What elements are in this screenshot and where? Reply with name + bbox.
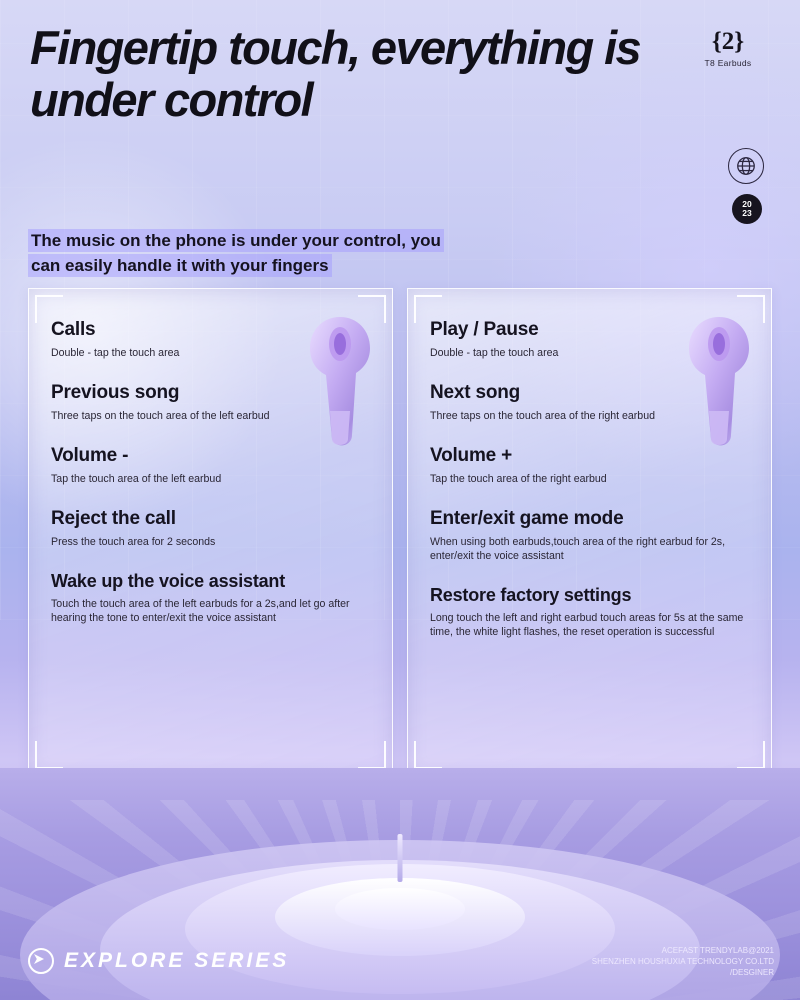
explore-logo-icon (28, 948, 54, 974)
list-item: Wake up the voice assistant Touch the to… (51, 571, 370, 625)
edition-number: {2} (680, 28, 776, 56)
list-item: Volume - Tap the touch area of the left … (51, 445, 370, 486)
product-stage-illustration: EXPLORE SERIES ACEFAST TRENDYLAB@2021 SH… (0, 768, 800, 1000)
item-desc: Touch the touch area of the left earbuds… (51, 597, 370, 625)
globe-icon (728, 148, 764, 184)
list-item: Play / Pause Double - tap the touch area (430, 319, 749, 360)
list-item: Previous song Three taps on the touch ar… (51, 382, 370, 423)
item-title: Calls (51, 319, 370, 341)
credit-line-2: SHENZHEN HOUSHUXIA TECHNOLOGY CO.LTD (592, 956, 774, 967)
item-desc: Press the touch area for 2 seconds (51, 535, 370, 549)
poster-page: Fingertip touch, everything is under con… (0, 0, 800, 1000)
item-desc: Tap the touch area of the left earbud (51, 472, 370, 486)
item-desc: Long touch the left and right earbud tou… (430, 611, 749, 639)
item-desc: Tap the touch area of the right earbud (430, 472, 749, 486)
item-title: Volume + (430, 445, 749, 467)
page-title: Fingertip touch, everything is under con… (30, 22, 670, 126)
edition-badge: {2} T8 Earbuds (680, 28, 776, 68)
list-item: Restore factory settings Long touch the … (430, 585, 749, 639)
item-title: Volume - (51, 445, 370, 467)
item-title: Previous song (51, 382, 370, 404)
item-desc: Three taps on the touch area of the left… (51, 409, 370, 423)
credit-line-1: ACEFAST TRENDYLAB@2021 (592, 945, 774, 956)
year-badge: 20 23 (732, 194, 762, 224)
right-panel: Play / Pause Double - tap the touch area… (407, 288, 772, 776)
item-title: Wake up the voice assistant (51, 571, 370, 592)
list-item: Next song Three taps on the touch area o… (430, 382, 749, 423)
list-item: Volume + Tap the touch area of the right… (430, 445, 749, 486)
item-desc: Double - tap the touch area (51, 346, 370, 360)
subtitle: The music on the phone is under your con… (30, 228, 590, 278)
footer-credits: ACEFAST TRENDYLAB@2021 SHENZHEN HOUSHUXI… (592, 945, 774, 978)
feature-panels: Calls Double - tap the touch area Previo… (28, 288, 772, 776)
item-desc: When using both earbuds,touch area of th… (430, 535, 749, 563)
item-title: Reject the call (51, 508, 370, 530)
product-name: T8 Earbuds (680, 58, 776, 68)
year-bottom: 23 (742, 209, 751, 218)
item-title: Next song (430, 382, 749, 404)
item-title: Play / Pause (430, 319, 749, 341)
brand-logo-text: EXPLORE SERIES (64, 949, 289, 973)
item-title: Restore factory settings (430, 585, 749, 606)
list-item: Enter/exit game mode When using both ear… (430, 508, 749, 563)
subtitle-line-2: can easily handle it with your fingers (30, 256, 330, 275)
left-panel: Calls Double - tap the touch area Previo… (28, 288, 393, 776)
subtitle-line-1: The music on the phone is under your con… (30, 231, 442, 250)
brand-logo: EXPLORE SERIES (28, 948, 289, 974)
item-desc: Three taps on the touch area of the righ… (430, 409, 749, 423)
list-item: Reject the call Press the touch area for… (51, 508, 370, 549)
list-item: Calls Double - tap the touch area (51, 319, 370, 360)
item-desc: Double - tap the touch area (430, 346, 749, 360)
item-title: Enter/exit game mode (430, 508, 749, 530)
credit-line-3: /DESGINER (592, 967, 774, 978)
